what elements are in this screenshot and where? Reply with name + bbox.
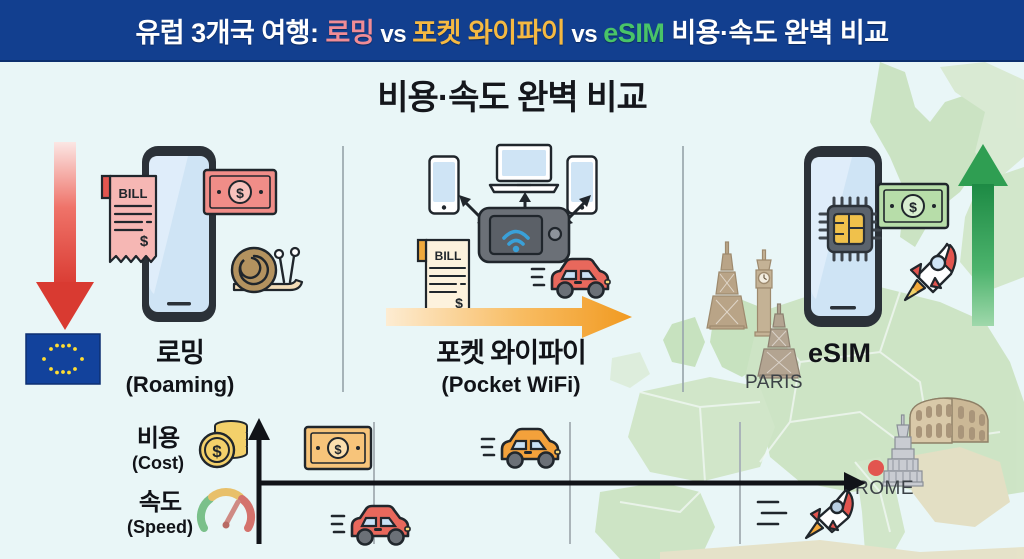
column-label-esim: eSIM <box>808 338 871 369</box>
banknote-red-icon: $ <box>202 168 278 218</box>
column-label-pocket-wifi: 포켓 와이파이 (Pocket WiFi) <box>396 331 626 398</box>
column-divider-2 <box>682 146 684 392</box>
main-heading: 비용·속도 완벽 비교 <box>0 70 1024 119</box>
title-pocket-wifi: 포켓 와이파이 <box>412 18 565 48</box>
svg-text:BILL: BILL <box>435 249 462 263</box>
metric-label-cost: 비용 (Cost) <box>112 418 204 474</box>
eiffel-tower-icon-top <box>706 240 748 330</box>
eiffel-tower-icon-paris <box>757 304 801 380</box>
metric-label-speed-ko: 속도 <box>110 482 210 517</box>
chart-banknote-icon-roaming: $ <box>303 425 373 471</box>
svg-text:$: $ <box>334 442 342 457</box>
metric-label-speed: 속도 (Speed) <box>110 482 210 538</box>
city-label-paris: PARIS <box>745 372 803 394</box>
column-label-pocket-wifi-ko: 포켓 와이파이 <box>396 331 626 370</box>
metric-label-cost-ko: 비용 <box>112 418 204 453</box>
svg-text:$: $ <box>909 199 917 215</box>
down-arrow-red-icon <box>30 142 100 332</box>
header-title-bar: 유럽 3개국 여행: 로밍 vs 포켓 와이파이 vs eSIM 비용·속도 완… <box>0 0 1024 62</box>
rome-tower-icon <box>883 415 923 487</box>
laptop-icon <box>488 143 560 195</box>
title-roaming: 로밍 <box>326 18 375 48</box>
metric-label-cost-en: (Cost) <box>112 453 204 474</box>
title-prefix: 유럽 3개국 여행: <box>135 18 325 48</box>
svg-text:$: $ <box>140 233 149 250</box>
column-label-roaming-ko: 로밍 <box>110 331 250 370</box>
car-red-icon-wifi <box>530 253 618 299</box>
title-suffix: 비용·속도 완벽 비교 <box>664 18 888 48</box>
svg-text:$: $ <box>212 442 222 461</box>
sim-chip-icon <box>818 196 882 262</box>
page-title: 유럽 3개국 여행: 로밍 vs 포켓 와이파이 vs eSIM 비용·속도 완… <box>135 11 888 50</box>
column-label-pocket-wifi-en: (Pocket WiFi) <box>396 372 626 398</box>
chart-car-red-icon <box>330 500 418 546</box>
banknote-green-icon: $ <box>876 182 950 230</box>
column-label-roaming-en: (Roaming) <box>110 372 250 398</box>
svg-text:$: $ <box>236 185 244 201</box>
title-esim: eSIM <box>603 18 664 48</box>
title-vs-1: vs <box>374 21 412 48</box>
bill-receipt-red-icon: BILL $ <box>98 172 160 268</box>
column-divider-1 <box>342 146 344 392</box>
rocket-icon-esim <box>895 240 963 310</box>
eu-flag-icon <box>26 334 100 384</box>
title-vs-2: vs <box>565 21 603 48</box>
infographic-canvas: 유럽 3개국 여행: 로밍 vs 포켓 와이파이 vs eSIM 비용·속도 완… <box>0 0 1024 559</box>
up-arrow-green-icon <box>956 144 1010 326</box>
snail-icon <box>228 238 306 300</box>
column-label-roaming: 로밍 (Roaming) <box>110 331 250 398</box>
svg-text:BILL: BILL <box>119 186 148 201</box>
speedometer-icon <box>198 484 254 534</box>
metric-label-speed-en: (Speed) <box>110 517 210 538</box>
chart-car-orange-icon <box>480 423 568 469</box>
coins-stack-icon: $ <box>198 418 252 472</box>
chart-rocket-icon <box>756 488 856 540</box>
